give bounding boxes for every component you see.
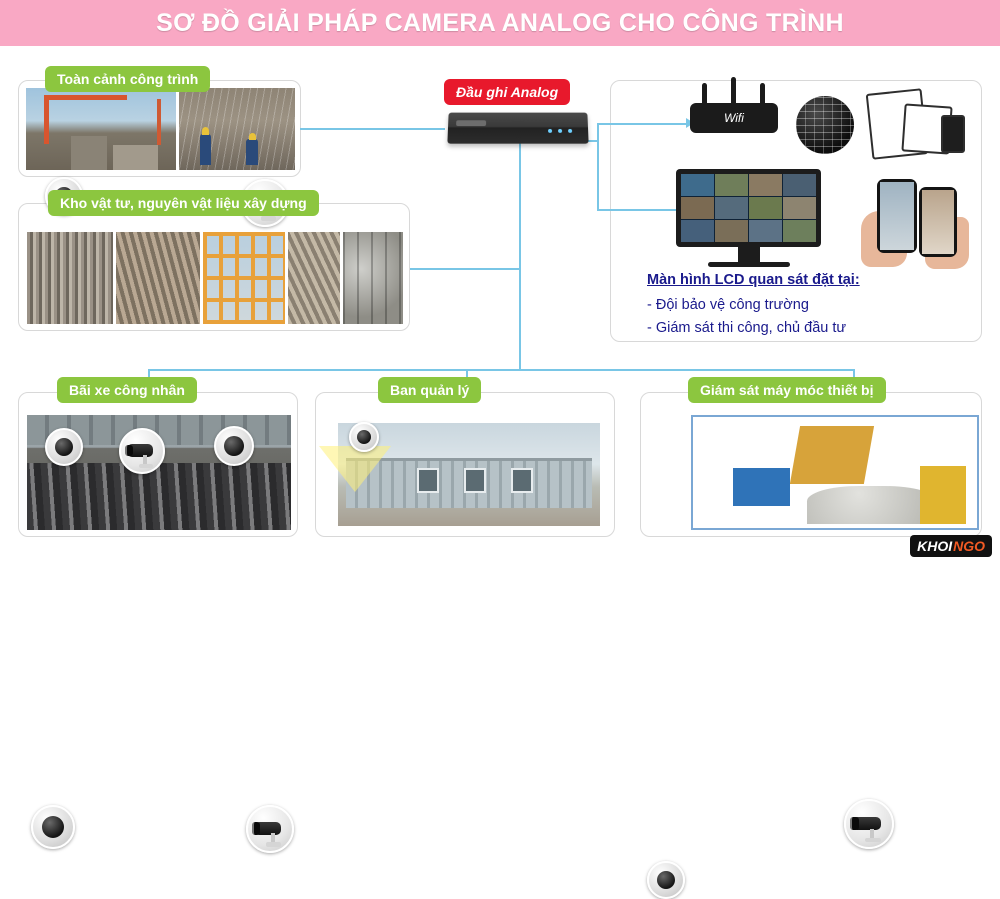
camera-view-cone	[319, 446, 391, 492]
wifi-label: Wifi	[690, 103, 778, 133]
globe-network-icon	[796, 96, 854, 154]
tablet-icon	[869, 91, 965, 157]
connector-overview-to-recorder	[300, 128, 445, 130]
container-window	[464, 468, 486, 493]
camera-base	[261, 216, 276, 220]
camera-cell	[681, 174, 714, 196]
label-management: Ban quản lý	[378, 377, 481, 403]
camera-lens	[252, 822, 260, 834]
note-heading: Màn hình LCD quan sát đặt tại:	[647, 269, 947, 291]
gravel-pile	[807, 486, 938, 524]
phone-screen	[922, 190, 954, 254]
camera-cell	[749, 174, 782, 196]
bullet-camera-icon	[844, 799, 894, 849]
dome-camera-icon	[31, 805, 75, 849]
connector-to-router	[597, 123, 687, 125]
panel-network-viewing: Wifi	[610, 80, 982, 342]
phone-small	[941, 115, 965, 153]
smartphone-in-hand-icon	[861, 177, 971, 269]
phone-screen	[880, 182, 914, 250]
bullet-camera-icon	[119, 428, 165, 474]
panel-machinery	[640, 392, 982, 537]
rebar-texture	[179, 88, 295, 170]
camera-cell	[749, 220, 782, 242]
camera-base	[266, 842, 281, 846]
photo-rebar-stack-3	[288, 232, 340, 324]
label-warehouse: Kho vật tư, nguyên vật liệu xây dựng	[48, 190, 319, 216]
monitor-foot	[708, 262, 790, 267]
dome-camera-icon	[45, 428, 83, 466]
phone-device	[919, 187, 957, 257]
photo-machinery-monitoring	[691, 415, 979, 530]
photo-scaffolding	[203, 232, 285, 324]
logo-part-2: NGO	[953, 538, 985, 554]
page-header: SƠ ĐỒ GIẢI PHÁP CAMERA ANALOG CHO CÔNG T…	[0, 0, 1000, 46]
photo-pipe-stack	[343, 232, 403, 324]
camera-cell	[749, 197, 782, 219]
connector-warehouse-vertical	[519, 180, 521, 370]
note-line-1: - Đội bảo vệ công trường	[647, 294, 947, 316]
recorder-led	[548, 129, 552, 133]
brand-logo: KHOI NGO	[910, 535, 992, 557]
camera-cell	[715, 220, 748, 242]
recorder-logo	[456, 121, 486, 127]
page-title: SƠ ĐỒ GIẢI PHÁP CAMERA ANALOG CHO CÔNG T…	[0, 0, 1000, 46]
camera-base	[865, 838, 881, 843]
lcd-monitor-icon	[676, 169, 821, 247]
container-window	[417, 468, 439, 493]
camera-cell	[783, 174, 816, 196]
container-window	[511, 468, 533, 493]
panel-overview	[18, 80, 301, 177]
building-block	[71, 136, 107, 170]
connector-warehouse-to-riser	[410, 268, 519, 270]
connector-to-monitor	[597, 209, 679, 211]
camera-lens	[125, 445, 133, 457]
worker-figure	[200, 134, 212, 165]
logo-part-1: KHOI	[917, 538, 952, 554]
monitor-stand	[738, 247, 760, 263]
dome-camera-icon	[214, 426, 254, 466]
label-parking: Bãi xe công nhân	[57, 377, 197, 403]
label-overview: Toàn cảnh công trình	[45, 66, 210, 92]
photo-rebar-stack-2	[116, 232, 200, 324]
crane-structure	[157, 99, 161, 144]
camera-lens	[850, 817, 858, 830]
dome-camera-icon	[647, 861, 685, 899]
label-machinery: Giám sát máy móc thiết bị	[688, 377, 886, 403]
bullet-camera-icon	[246, 805, 294, 853]
excavator-arm	[790, 426, 874, 484]
camera-cell	[681, 220, 714, 242]
recorder-led	[568, 129, 572, 133]
recorder-led	[558, 129, 562, 133]
camera-cell	[783, 220, 816, 242]
note-line-2: - Giám sát thi công, chủ đầu tư	[647, 317, 947, 339]
photo-construction-workers	[179, 88, 295, 170]
yellow-compactor	[920, 466, 965, 524]
lcd-location-note: Màn hình LCD quan sát đặt tại: - Đội bảo…	[647, 269, 947, 339]
camera-cell	[715, 197, 748, 219]
camera-cell	[783, 197, 816, 219]
analog-recorder-device	[447, 113, 588, 144]
photo-rebar-stack-1	[27, 232, 113, 324]
building-block	[113, 145, 158, 170]
connector-bottom-bus	[148, 369, 854, 371]
camera-cell	[715, 174, 748, 196]
wifi-router-icon: Wifi	[690, 103, 778, 133]
label-recorder: Đầu ghi Analog	[444, 79, 570, 105]
camera-cell	[681, 197, 714, 219]
connector-network-riser	[597, 123, 599, 210]
monitor-screen	[681, 174, 816, 242]
panel-warehouse	[18, 203, 410, 331]
blue-machine	[733, 468, 790, 506]
motorbike-row	[27, 463, 291, 530]
dome-camera-icon	[349, 422, 379, 452]
worker-figure	[246, 139, 258, 165]
phone-device	[877, 179, 917, 253]
photo-construction-site-overview	[26, 88, 176, 170]
camera-base	[139, 464, 153, 468]
